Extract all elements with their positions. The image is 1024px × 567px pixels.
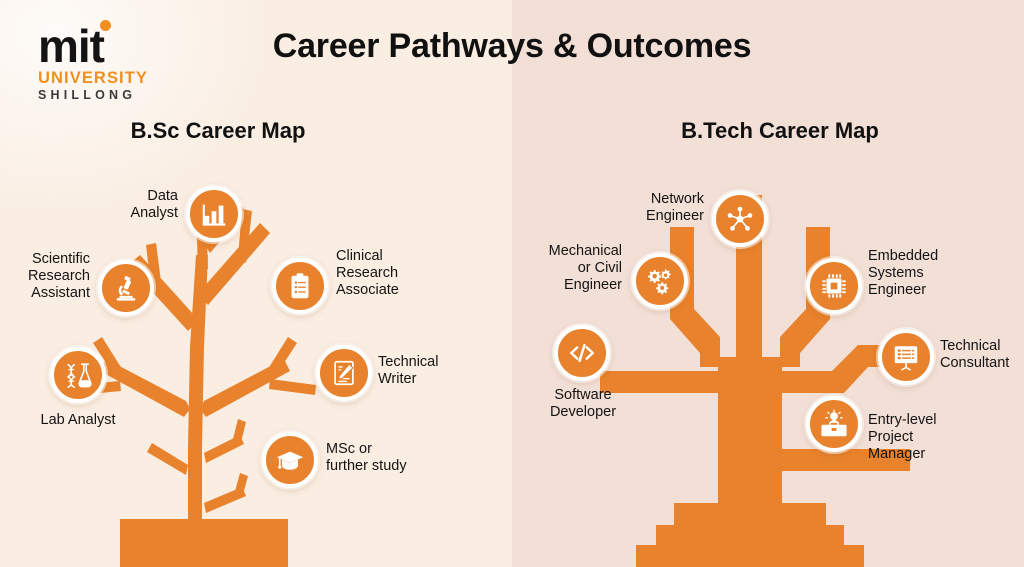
node-badge-msc-further-study[interactable] (262, 432, 318, 488)
node-badge-software-developer[interactable] (554, 325, 610, 381)
gears-icon (645, 266, 675, 296)
page-title: Career Pathways & Outcomes (0, 27, 1024, 66)
node-badge-lab-analyst[interactable] (50, 347, 106, 403)
node-label-clinical-research-associate: Clinical Research Associate (336, 248, 446, 299)
microchip-icon (819, 271, 849, 301)
slide-career-pathways: mit UNIVERSITY SHILLONG Career Pathways … (0, 0, 1024, 567)
clipboard-icon (285, 271, 315, 301)
node-label-scientific-research-assistant: Scientific Research Assistant (6, 251, 90, 302)
node-badge-mechanical-civil-engineer[interactable] (632, 253, 688, 309)
node-label-mechanical-civil-engineer: Mechanical or Civil Engineer (518, 243, 622, 294)
node-badge-clinical-research-associate[interactable] (272, 258, 328, 314)
node-badge-entry-level-project-manager[interactable] (806, 396, 862, 452)
network-nodes-icon (725, 204, 755, 234)
node-label-msc-further-study: MSc or further study (326, 441, 456, 475)
code-brackets-icon (567, 338, 597, 368)
node-label-technical-writer: Technical Writer (378, 354, 488, 388)
bar-chart-icon (199, 199, 229, 229)
node-badge-embedded-systems-engineer[interactable] (806, 258, 862, 314)
node-label-embedded-systems-engineer: Embedded Systems Engineer (868, 248, 980, 299)
node-label-data-analyst: Data Analyst (92, 188, 178, 222)
node-label-entry-level-project-manager: Entry-level Project Manager (868, 412, 982, 463)
logo-shillong-text: SHILLONG (38, 88, 158, 103)
btech-map-title: B.Tech Career Map (524, 118, 1024, 144)
node-label-technical-consultant: Technical Consultant (940, 338, 1024, 372)
briefcase-idea-icon (819, 409, 849, 439)
node-label-software-developer: Software Developer (524, 387, 642, 421)
document-pen-icon (329, 358, 359, 388)
microscope-icon (111, 273, 141, 303)
presentation-icon (891, 342, 921, 372)
node-badge-scientific-research-assistant[interactable] (98, 260, 154, 316)
graduation-cap-icon (275, 445, 305, 475)
node-badge-data-analyst[interactable] (186, 186, 242, 242)
node-badge-technical-consultant[interactable] (878, 329, 934, 385)
bsc-map-title: B.Sc Career Map (0, 118, 474, 144)
node-badge-technical-writer[interactable] (316, 345, 372, 401)
node-badge-network-engineer[interactable] (712, 191, 768, 247)
node-label-lab-analyst: Lab Analyst (18, 412, 138, 429)
dna-flask-icon (63, 360, 93, 390)
node-label-network-engineer: Network Engineer (606, 191, 704, 225)
